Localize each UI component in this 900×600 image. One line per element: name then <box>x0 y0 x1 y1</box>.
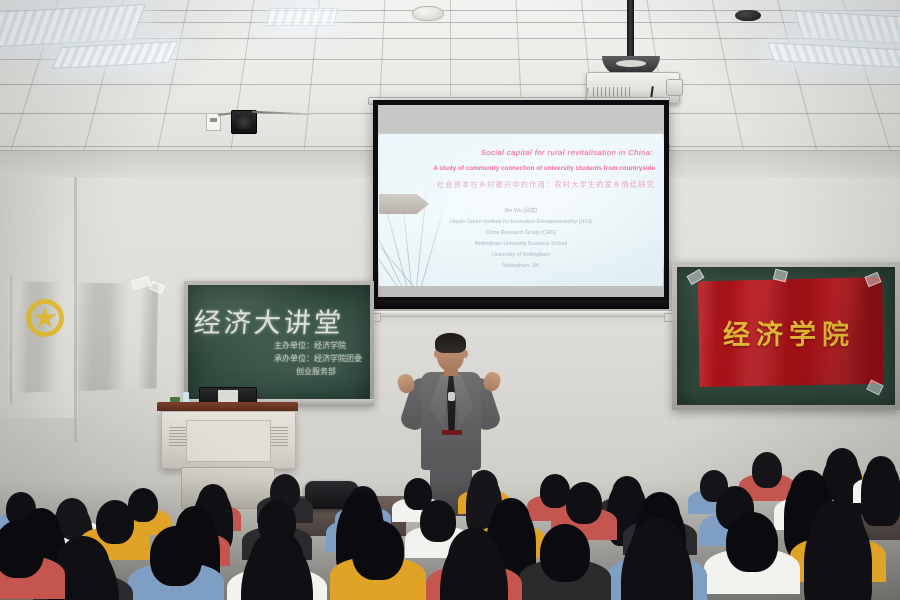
podium-speaker-grill-left <box>169 425 186 446</box>
lecture-hall-photo: Social capital for rural revitalisation … <box>0 0 900 600</box>
blackboard: 经济大讲堂 主办单位：经济学院承办单位：经济学院团委创业服务部 <box>188 285 370 401</box>
slide-author-line-0: Bin Wu (武斌) <box>379 206 663 217</box>
blackboard-line-2: 创业服务部 <box>274 365 362 378</box>
blackboard-line-1: 承办单位：经济学院团委 <box>274 352 362 365</box>
screen-bottom-rail <box>362 310 682 317</box>
audience-member <box>448 528 500 588</box>
audience-head <box>150 526 202 586</box>
lecturer-hair <box>435 333 466 353</box>
podium-speaker-grill-right <box>271 425 288 446</box>
communist-youth-league-flag <box>10 281 158 393</box>
audience-member <box>352 520 404 580</box>
audience-member <box>566 482 602 524</box>
podium-top-surface <box>157 402 298 411</box>
audience-member <box>150 526 202 586</box>
projector-vents <box>593 87 633 97</box>
audience-member <box>540 524 590 582</box>
slide-author-block: Bin Wu (武斌)Haydn Green Institute for Inn… <box>379 206 663 272</box>
screen-bottom-weight-bar <box>373 300 669 309</box>
projector-lens <box>666 79 683 96</box>
audience-head <box>752 452 782 488</box>
audience-member <box>612 476 642 510</box>
audience-member <box>866 456 896 490</box>
wall-speaker <box>231 110 257 134</box>
audience-member <box>0 520 44 578</box>
slide-author-line-2: China Research Group (CRG) <box>379 228 663 239</box>
blackboard-subtext: 主办单位：经济学院承办单位：经济学院团委创业服务部 <box>274 339 362 378</box>
ceiling-light-5 <box>266 8 338 26</box>
blackboard-headline: 经济大讲堂 <box>193 301 366 340</box>
audience-head <box>726 512 778 572</box>
smoke-detector-icon <box>412 6 444 21</box>
audience-member <box>726 512 778 572</box>
blackboard-line-0: 主办单位：经济学院 <box>274 339 362 352</box>
ceiling-speaker-icon <box>735 10 761 21</box>
lecturer-badge <box>448 392 455 401</box>
slide-author-line-3: Nottingham University Business School <box>379 239 663 250</box>
slide-subtitle: A study of community connection of unive… <box>379 165 659 172</box>
audience-head <box>566 482 602 524</box>
podium-front-panel <box>186 420 271 462</box>
flag-fabric-folds <box>10 281 158 393</box>
projected-slide: Social capital for rural revitalisation … <box>379 134 663 286</box>
audience-head <box>0 520 44 578</box>
audience-member <box>812 500 864 560</box>
slide-author-line-5: Nottingham, UK <box>379 261 663 272</box>
slide-title: Social capital for rural revitalisation … <box>379 148 659 157</box>
audience-member <box>752 452 782 488</box>
slide-title-chinese: 社会资本在乡村振兴中的作用：农村大学生的家乡情结研究 <box>379 180 659 190</box>
audience-head <box>352 520 404 580</box>
audience-long-hair <box>861 460 900 526</box>
banner-text: 经济学院 <box>694 313 884 352</box>
audience-member <box>630 518 684 580</box>
lecturer-belt <box>442 430 462 435</box>
audience-member <box>826 448 858 486</box>
slide-author-line-4: University of Nottingham <box>379 250 663 261</box>
school-of-economics-banner: 经济学院 <box>694 277 884 387</box>
projector-mount-pole <box>627 0 634 62</box>
audience-member <box>250 530 304 592</box>
lecturer-ear-right <box>463 350 468 358</box>
slide-author-line-1: Haydn Green Institute for Innovation Ent… <box>379 217 663 228</box>
audience-head <box>540 524 590 582</box>
